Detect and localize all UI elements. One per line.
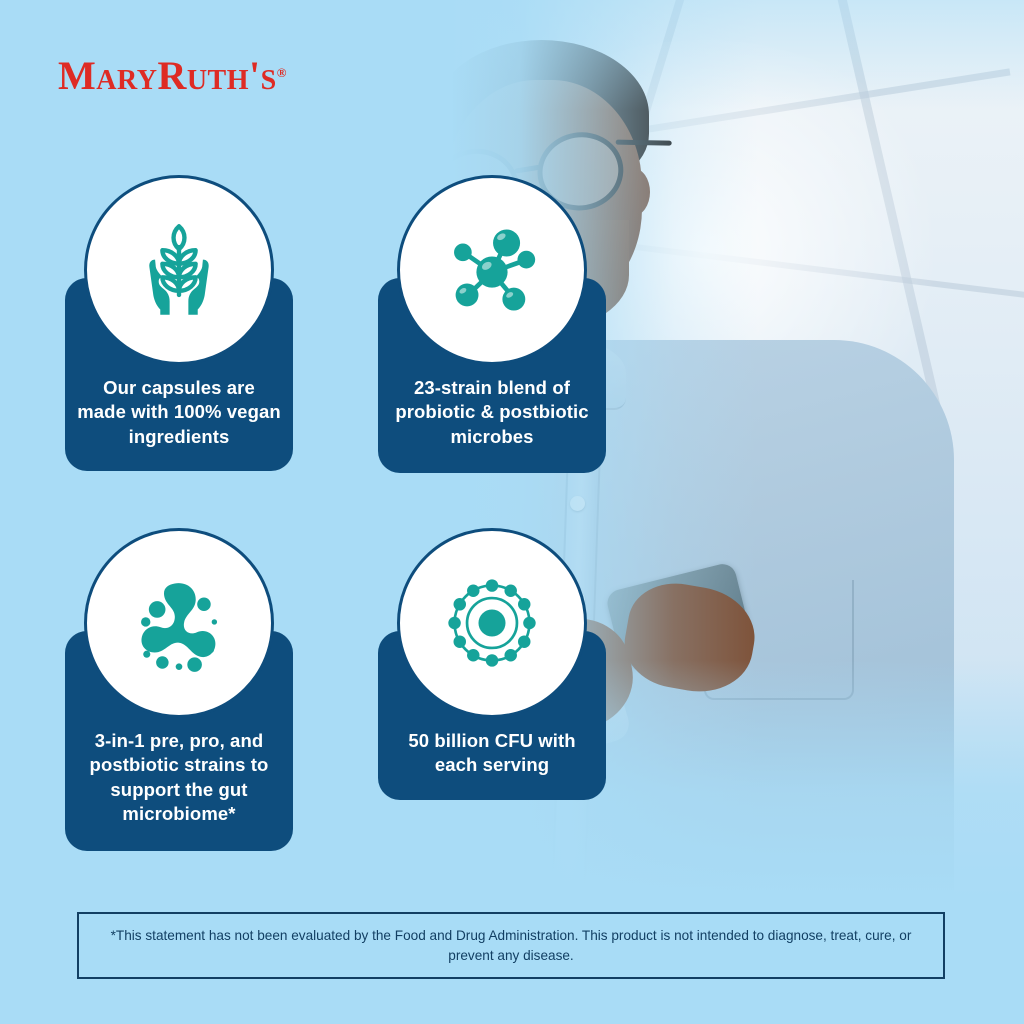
promo-graphic: MaryRuth's® Our capsules are made with 1… xyxy=(0,0,1024,1024)
molecule-icon xyxy=(440,218,544,322)
microbe-blob-icon xyxy=(127,571,231,675)
feature-card-icon-circle xyxy=(84,175,274,365)
feature-card-icon-circle xyxy=(397,528,587,718)
hands-holding-plant-icon xyxy=(127,218,231,322)
cell-nucleus-icon xyxy=(440,571,544,675)
feature-card-grid: Our capsules are made with 100% vegan in… xyxy=(0,0,1024,1024)
fda-disclaimer: *This statement has not been evaluated b… xyxy=(77,912,945,979)
feature-card-icon-circle xyxy=(397,175,587,365)
feature-card-icon-circle xyxy=(84,528,274,718)
